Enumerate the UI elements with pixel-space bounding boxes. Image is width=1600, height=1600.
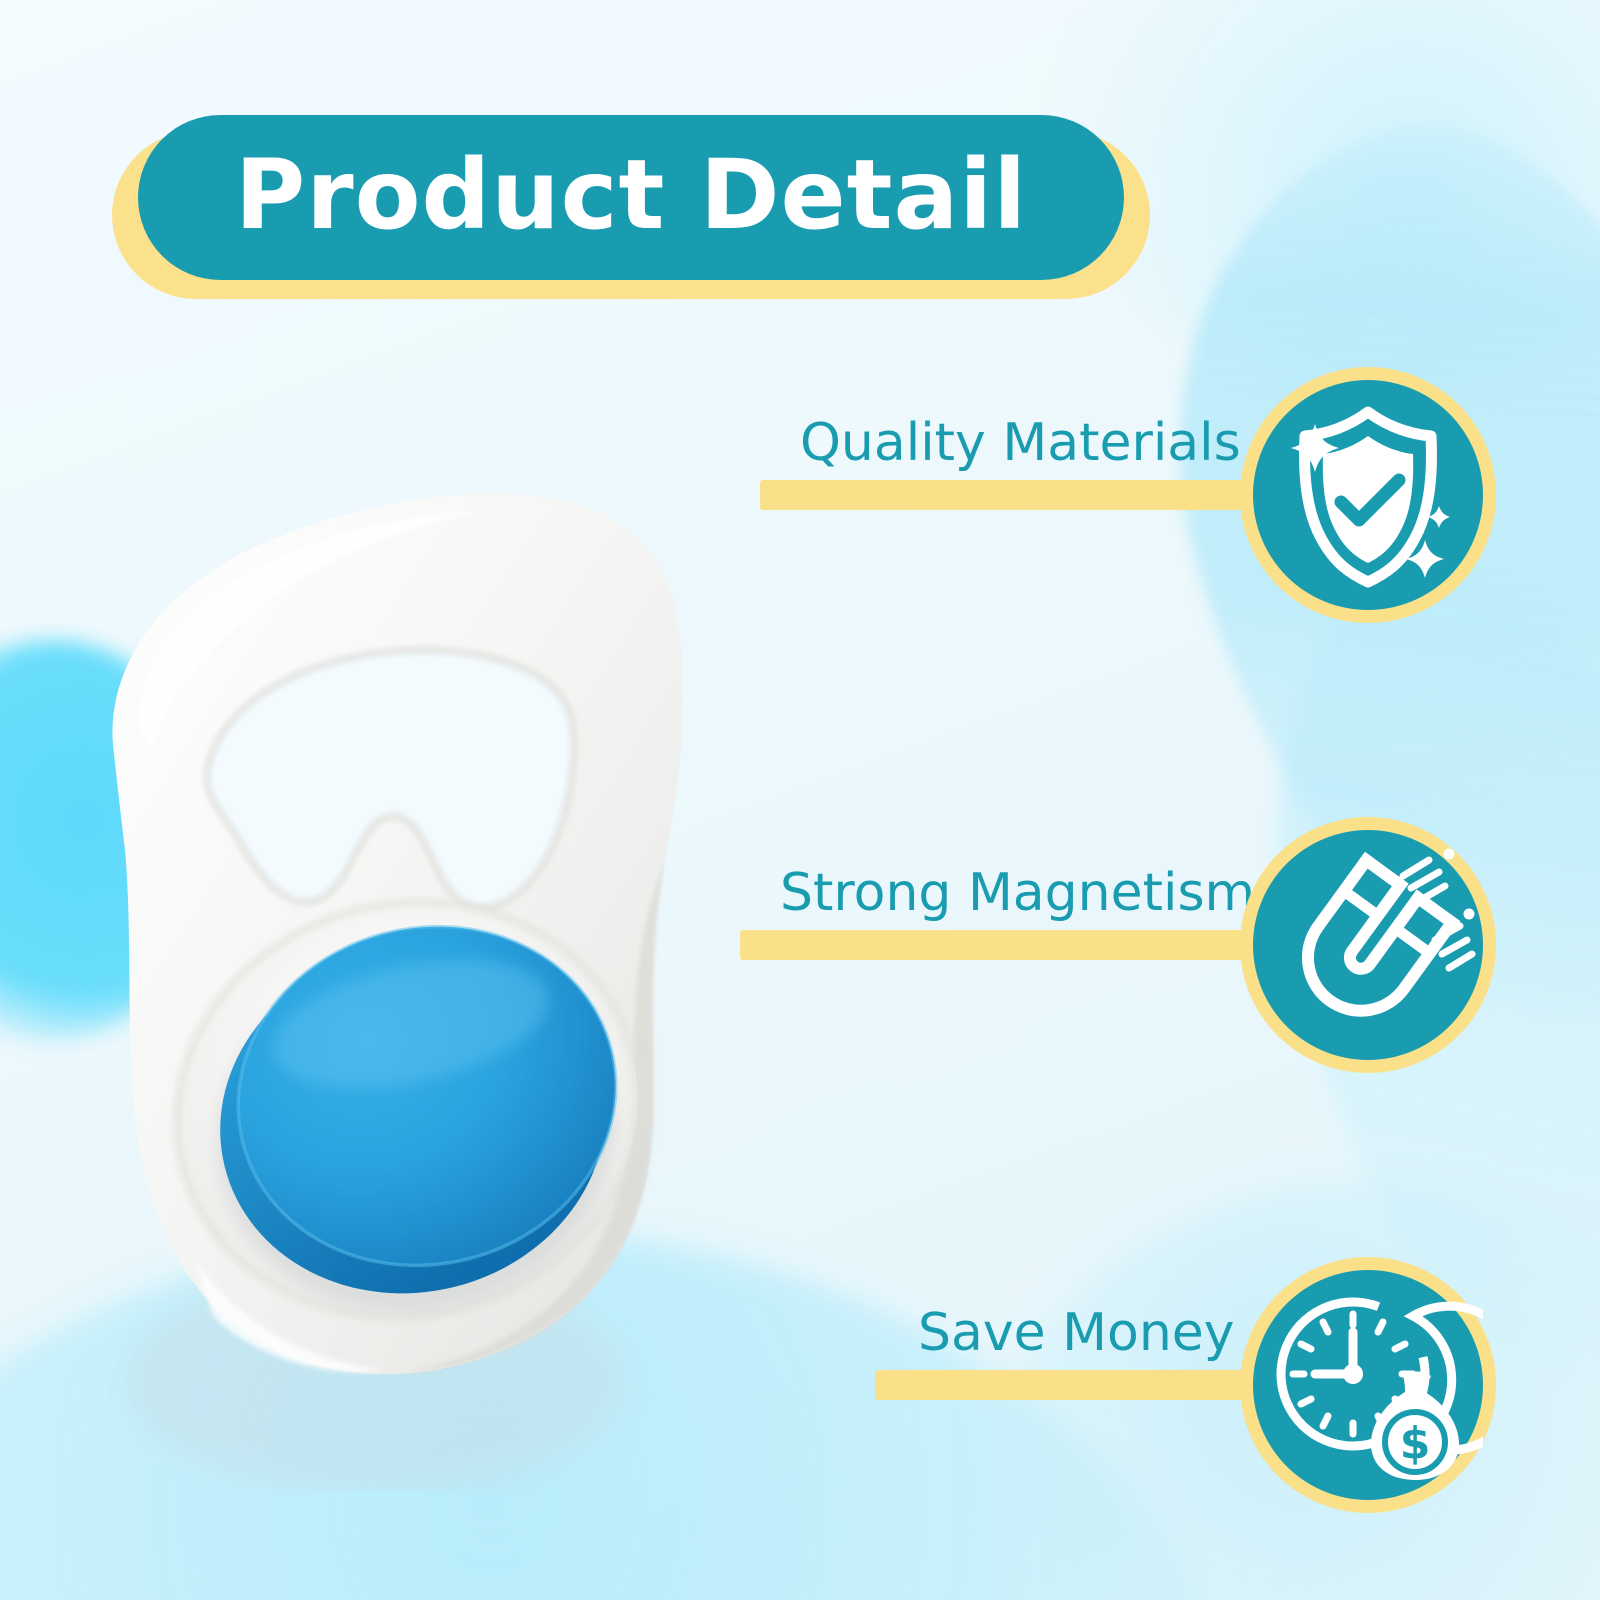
feature-icon-save-money: $ xyxy=(1240,1257,1496,1513)
title-pill-teal: Product Detail xyxy=(138,115,1124,280)
feature-connector-bar xyxy=(760,480,1270,510)
feature-icon-strong-magnetism xyxy=(1240,817,1496,1073)
feature-row-quality-materials: Quality Materials xyxy=(740,355,1500,625)
shield-check-icon xyxy=(1253,380,1483,610)
product-detail-infographic: Product Detail xyxy=(0,0,1600,1600)
feature-connector-bar xyxy=(740,930,1265,960)
svg-text:$: $ xyxy=(1400,1418,1431,1469)
product-image xyxy=(55,420,715,1490)
feature-icon-quality-materials xyxy=(1240,367,1496,623)
feature-row-strong-magnetism: Strong Magnetism xyxy=(730,805,1500,1075)
feature-connector-bar xyxy=(875,1370,1275,1400)
page-title-banner: Product Detail xyxy=(112,115,1150,300)
feature-label-strong-magnetism: Strong Magnetism xyxy=(780,867,1255,919)
feature-label-save-money: Save Money xyxy=(918,1307,1235,1359)
clock-money-bag-icon: $ xyxy=(1253,1270,1483,1500)
horseshoe-magnet-icon xyxy=(1253,830,1483,1060)
page-title: Product Detail xyxy=(235,147,1027,243)
feature-row-save-money: Save Money xyxy=(860,1245,1500,1515)
feature-label-quality-materials: Quality Materials xyxy=(800,417,1241,469)
